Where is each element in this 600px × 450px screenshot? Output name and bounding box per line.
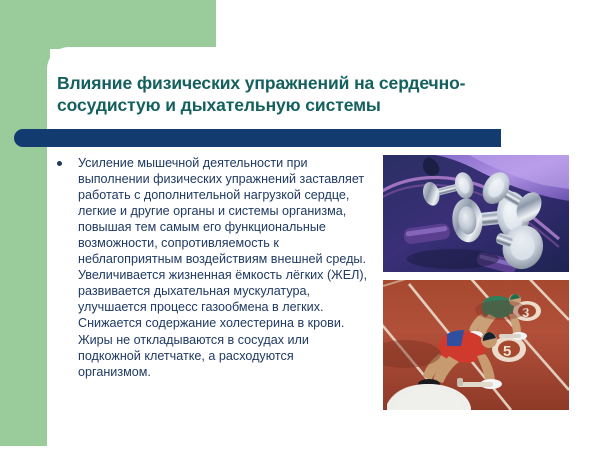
sprinters-illustration: 5 3 [383,280,569,410]
bullet-point-icon [57,161,62,166]
slide-body-text: Усиление мышечной деятельности при выпол… [78,155,369,380]
slide-title: Влияние физических упражнений на сердечн… [57,72,557,117]
dumbbells-illustration [383,155,569,272]
presentation-slide: Влияние физических упражнений на сердечн… [0,0,600,450]
navy-divider-bar [14,129,501,147]
green-accent-block-left [0,40,50,446]
lane-number-label: 5 [503,343,511,360]
dumbbells-and-jump-rope-photo [383,155,569,272]
slide-body-bullet-item: Усиление мышечной деятельности при выпол… [57,155,369,380]
sprinters-at-starting-blocks-photo: 5 3 [383,280,569,410]
